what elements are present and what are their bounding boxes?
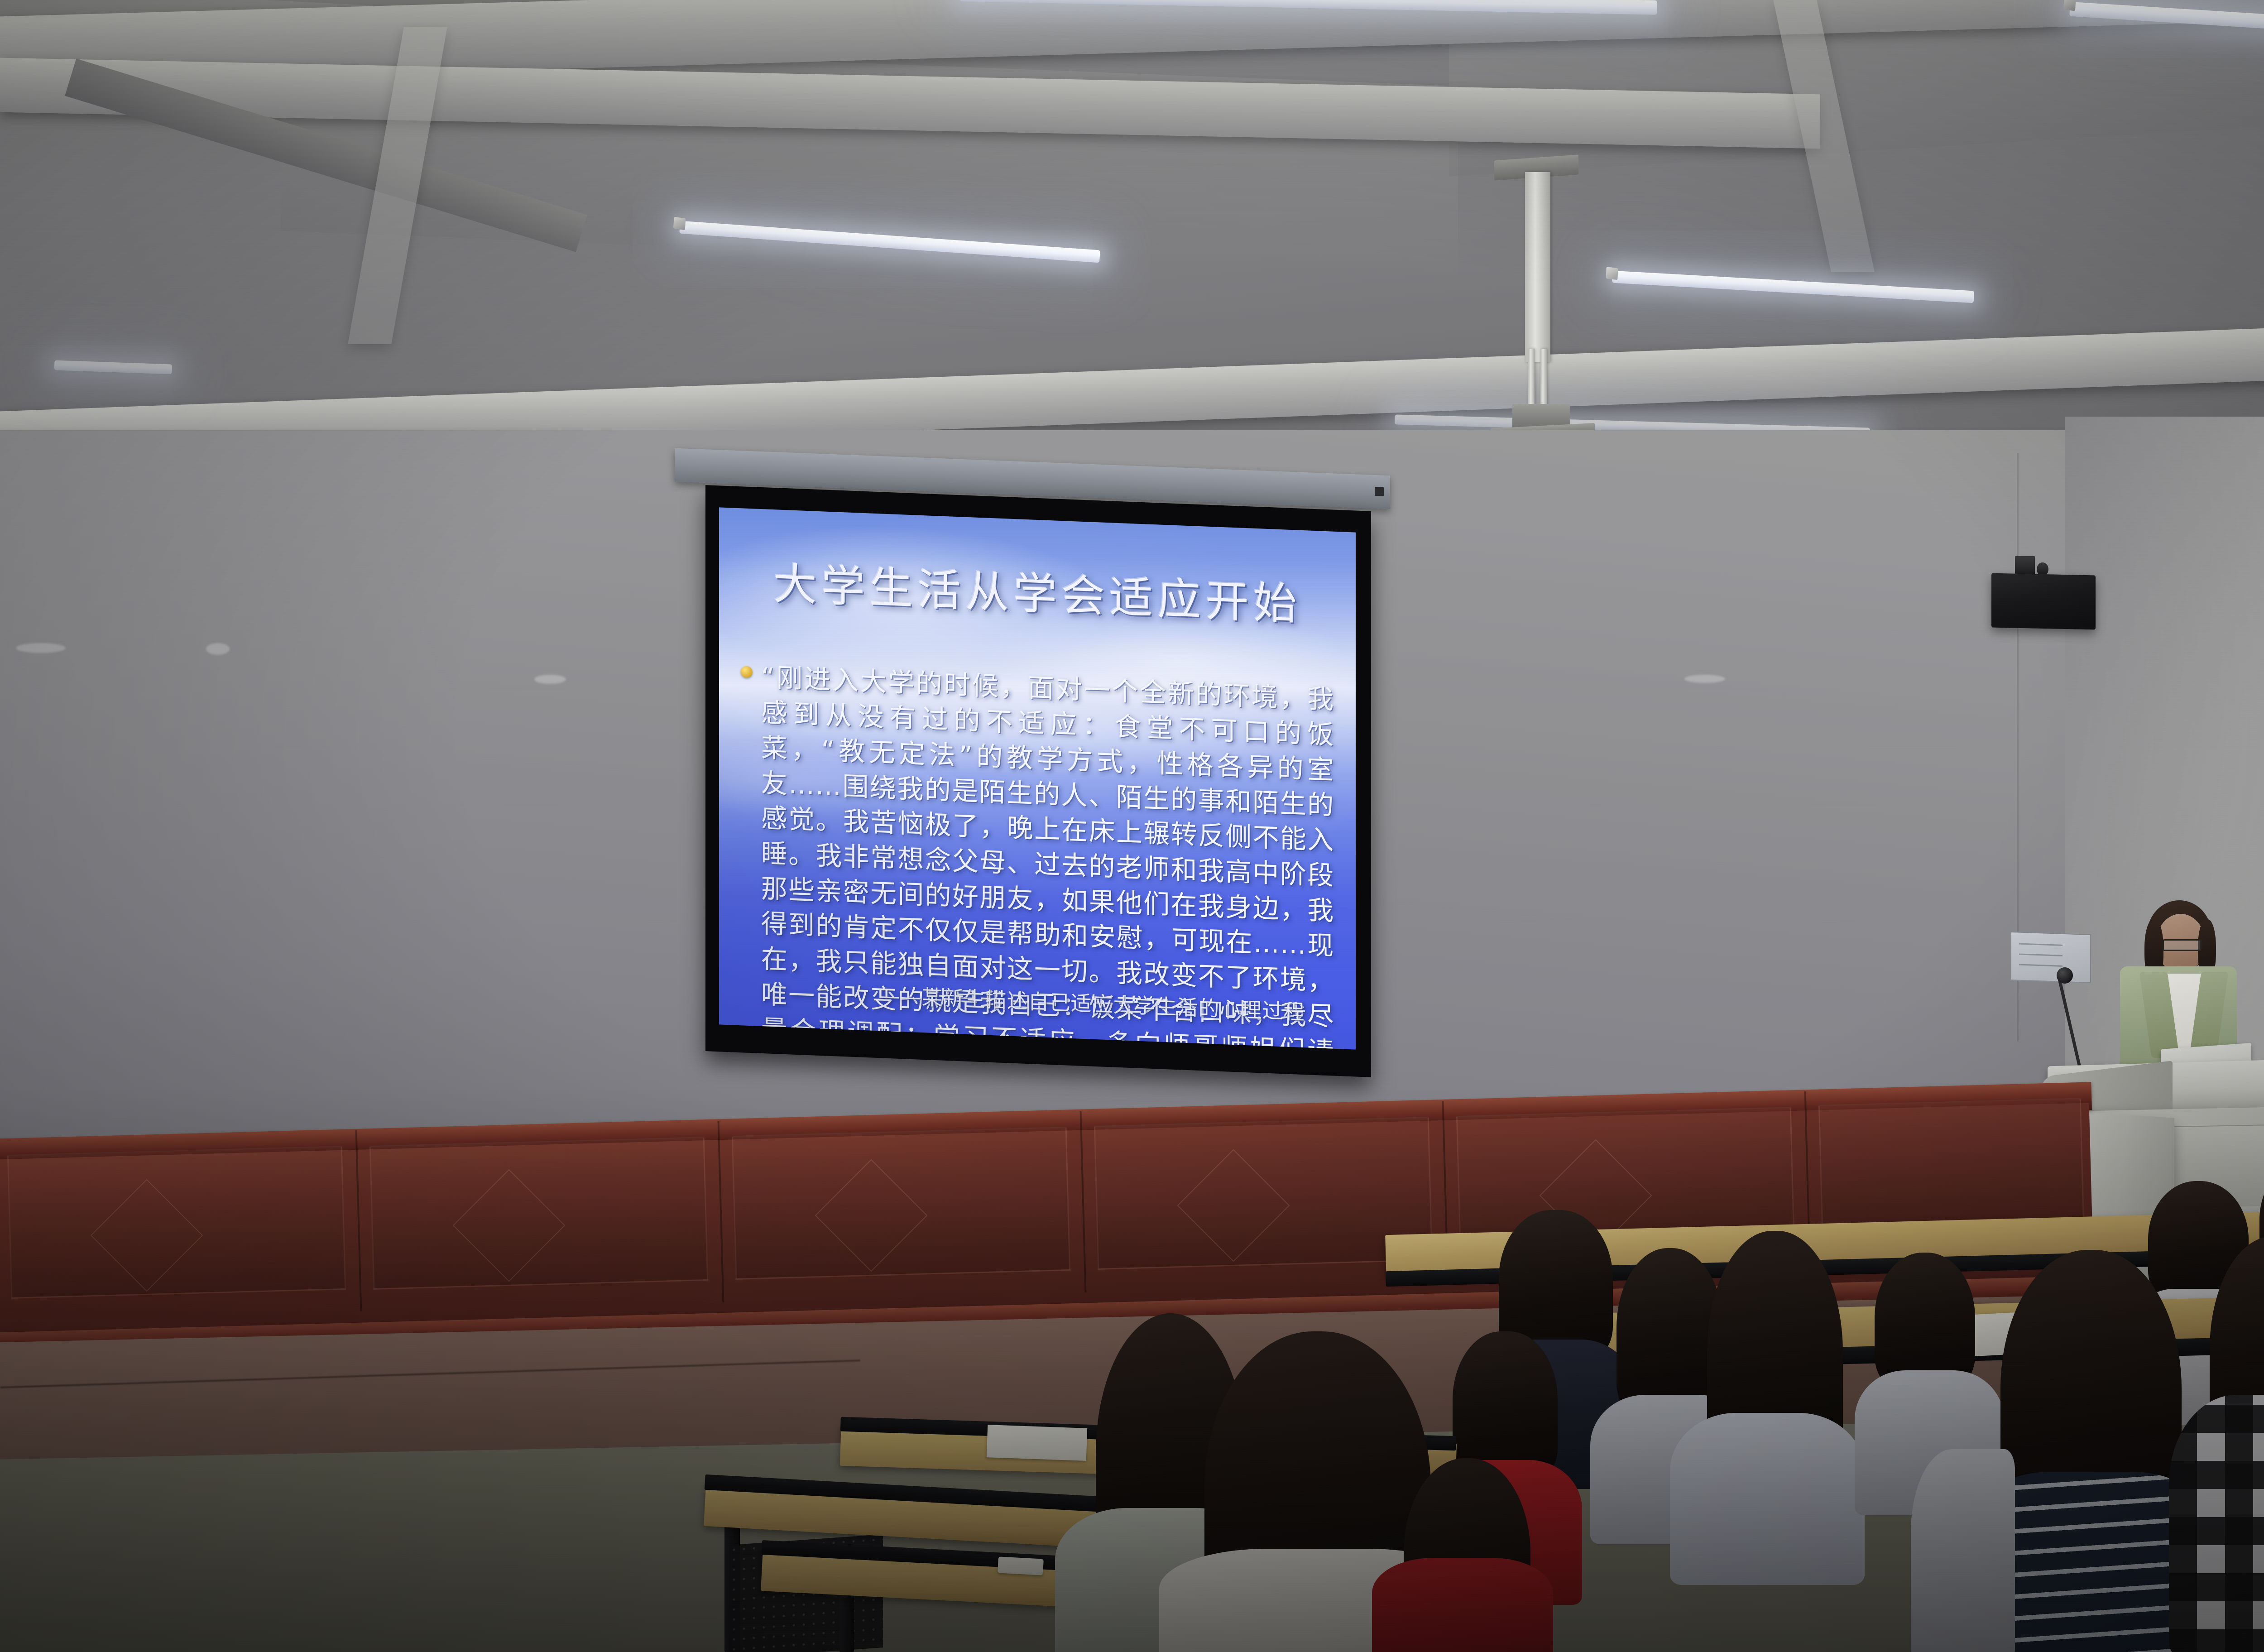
wall-scuff-left-1: [16, 643, 66, 653]
notice-line-1: [2019, 943, 2063, 946]
notice-line-2: [2019, 953, 2063, 956]
presentation-slide: 大学生活从学会适应开始 “刚进入大学的时候，面对一个全新的环境，我感到从没有过的…: [719, 507, 1356, 1049]
wall-notice-sheet: [2010, 932, 2091, 983]
lecturer-glasses-icon: [2163, 939, 2202, 951]
tube-endcap: [1606, 267, 1618, 280]
student-front-5-body: [2169, 1395, 2264, 1652]
wall-scuff-center: [534, 675, 566, 684]
student-left-edge-body: [1911, 1449, 2015, 1652]
bullet-dot-icon: [741, 666, 753, 678]
notice-line-3: [2019, 964, 2063, 966]
projector-pole-lower-2: [1540, 349, 1547, 408]
wall-speaker: [1991, 573, 2096, 630]
student-mid-5-hair: [1875, 1253, 1975, 1388]
projector-pole-mount: [1525, 172, 1550, 362]
wall-scuff-left-2: [206, 643, 230, 655]
gooseneck-microphone: [2057, 967, 2073, 984]
eraser-on-desk[interactable]: [998, 1556, 1044, 1575]
tube-endcap: [673, 217, 686, 231]
wall-scuff-right: [1684, 675, 1725, 683]
student-mid-4-body: [1670, 1413, 1865, 1585]
notebook-on-desk-2[interactable]: [987, 1425, 1087, 1461]
tube-endcap: [2063, 0, 2076, 11]
student-front-3-body: [1372, 1558, 1553, 1652]
slide-title: 大学生活从学会适应开始: [719, 546, 1356, 634]
projector-pole-lower: [1528, 349, 1535, 408]
lecture-hall-photo: 大学生活从学会适应开始 “刚进入大学的时候，面对一个全新的环境，我感到从没有过的…: [0, 0, 2264, 1652]
screen-housing-endcap: [1375, 487, 1384, 496]
